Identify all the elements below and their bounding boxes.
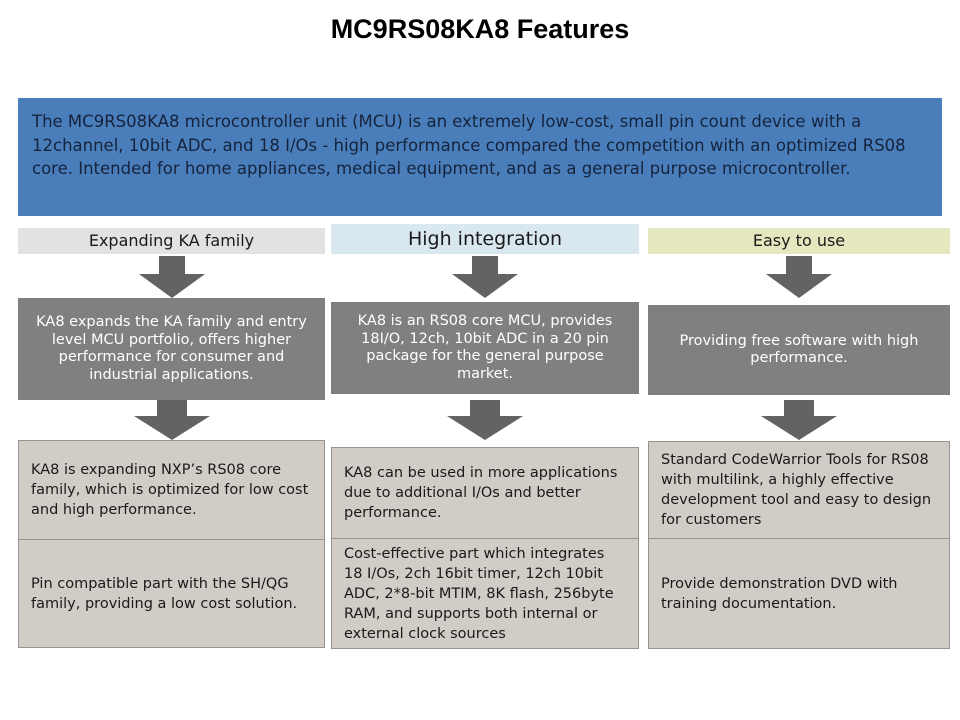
detail-box-column-2-item-1: KA8 can be used in more applications due… — [331, 447, 639, 539]
down-arrow-icon — [452, 256, 518, 298]
summary-box-column-2: KA8 is an RS08 core MCU, provides 18I/O,… — [331, 302, 639, 394]
column-header-expanding-ka-family: Expanding KA family — [18, 228, 325, 254]
detail-box-column-3-item-2: Provide demonstration DVD with training … — [648, 539, 950, 649]
summary-text-column-2: KA8 is an RS08 core MCU, provides 18I/O,… — [339, 313, 631, 383]
column-expanding-ka-family: Expanding KA family KA8 expands the KA f… — [18, 0, 325, 720]
down-arrow-icon — [761, 400, 837, 440]
detail-box-column-3-item-1: Standard CodeWarrior Tools for RS08 with… — [648, 441, 950, 539]
column-header-easy-to-use: Easy to use — [648, 228, 950, 254]
detail-text-column-1-item-1: KA8 is expanding NXP’s RS08 core family,… — [31, 460, 312, 520]
summary-text-column-1: KA8 expands the KA family and entry leve… — [26, 314, 317, 384]
detail-text-column-2-item-2: Cost-effective part which integrates 18 … — [344, 544, 626, 644]
summary-text-column-3: Providing free software with high perfor… — [656, 333, 942, 368]
detail-text-column-2-item-1: KA8 can be used in more applications due… — [344, 463, 626, 523]
detail-text-column-1-item-2: Pin compatible part with the SH/QG famil… — [31, 574, 312, 614]
down-arrow-icon — [139, 256, 205, 298]
detail-box-column-1-item-2: Pin compatible part with the SH/QG famil… — [18, 540, 325, 648]
detail-box-column-2-item-2: Cost-effective part which integrates 18 … — [331, 539, 639, 649]
summary-box-column-1: KA8 expands the KA family and entry leve… — [18, 298, 325, 400]
detail-box-column-1-item-1: KA8 is expanding NXP’s RS08 core family,… — [18, 440, 325, 540]
down-arrow-icon — [447, 400, 523, 440]
detail-text-column-3-item-2: Provide demonstration DVD with training … — [661, 574, 937, 614]
summary-box-column-3: Providing free software with high perfor… — [648, 305, 950, 395]
detail-text-column-3-item-1: Standard CodeWarrior Tools for RS08 with… — [661, 450, 937, 530]
down-arrow-icon — [766, 256, 832, 298]
down-arrow-icon — [134, 400, 210, 440]
column-easy-to-use: Easy to use Providing free software with… — [648, 0, 950, 720]
column-high-integration: High integration KA8 is an RS08 core MCU… — [331, 0, 639, 720]
column-header-high-integration: High integration — [331, 224, 639, 254]
